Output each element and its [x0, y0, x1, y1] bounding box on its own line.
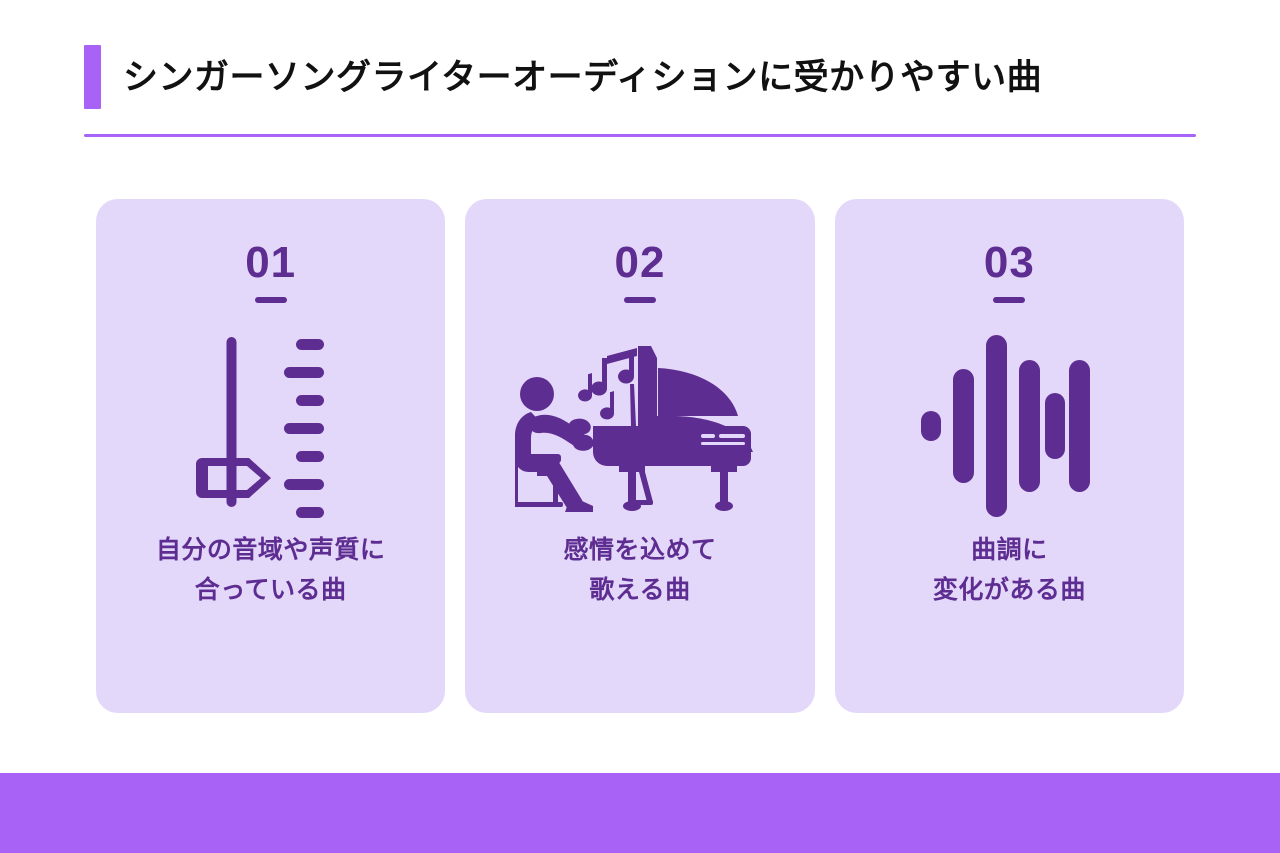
equalizer-slider-icon	[196, 331, 346, 521]
card-list: 01 自分の音域や声質に 合ってい	[96, 199, 1184, 713]
audio-waveform-icon	[919, 331, 1099, 521]
card-number-underline	[255, 297, 287, 303]
card-03[interactable]: 03 曲調に 変化がある曲	[835, 199, 1184, 713]
card-number-03: 03	[984, 241, 1035, 285]
title-accent-bar	[84, 45, 101, 109]
card-number-01: 01	[245, 241, 296, 285]
card-number-02: 02	[615, 241, 666, 285]
card-label-02: 感情を込めて 歌える曲	[563, 531, 716, 610]
card-01[interactable]: 01 自分の音域や声質に 合ってい	[96, 199, 445, 713]
page-header: シンガーソングライターオーディションに受かりやすい曲	[84, 44, 1196, 142]
card-number-underline	[993, 297, 1025, 303]
card-label-01: 自分の音域や声質に 合っている曲	[156, 531, 386, 610]
pianist-playing-piano-icon	[515, 331, 765, 521]
title-row: シンガーソングライターオーディションに受かりやすい曲	[84, 44, 1196, 110]
card-02[interactable]: 02	[465, 199, 814, 713]
page-title: シンガーソングライターオーディションに受かりやすい曲	[123, 60, 1042, 95]
card-number-underline	[624, 297, 656, 303]
footer-accent-bar	[0, 773, 1280, 853]
header-divider	[84, 134, 1196, 137]
card-label-03: 曲調に 変化がある曲	[933, 531, 1086, 610]
